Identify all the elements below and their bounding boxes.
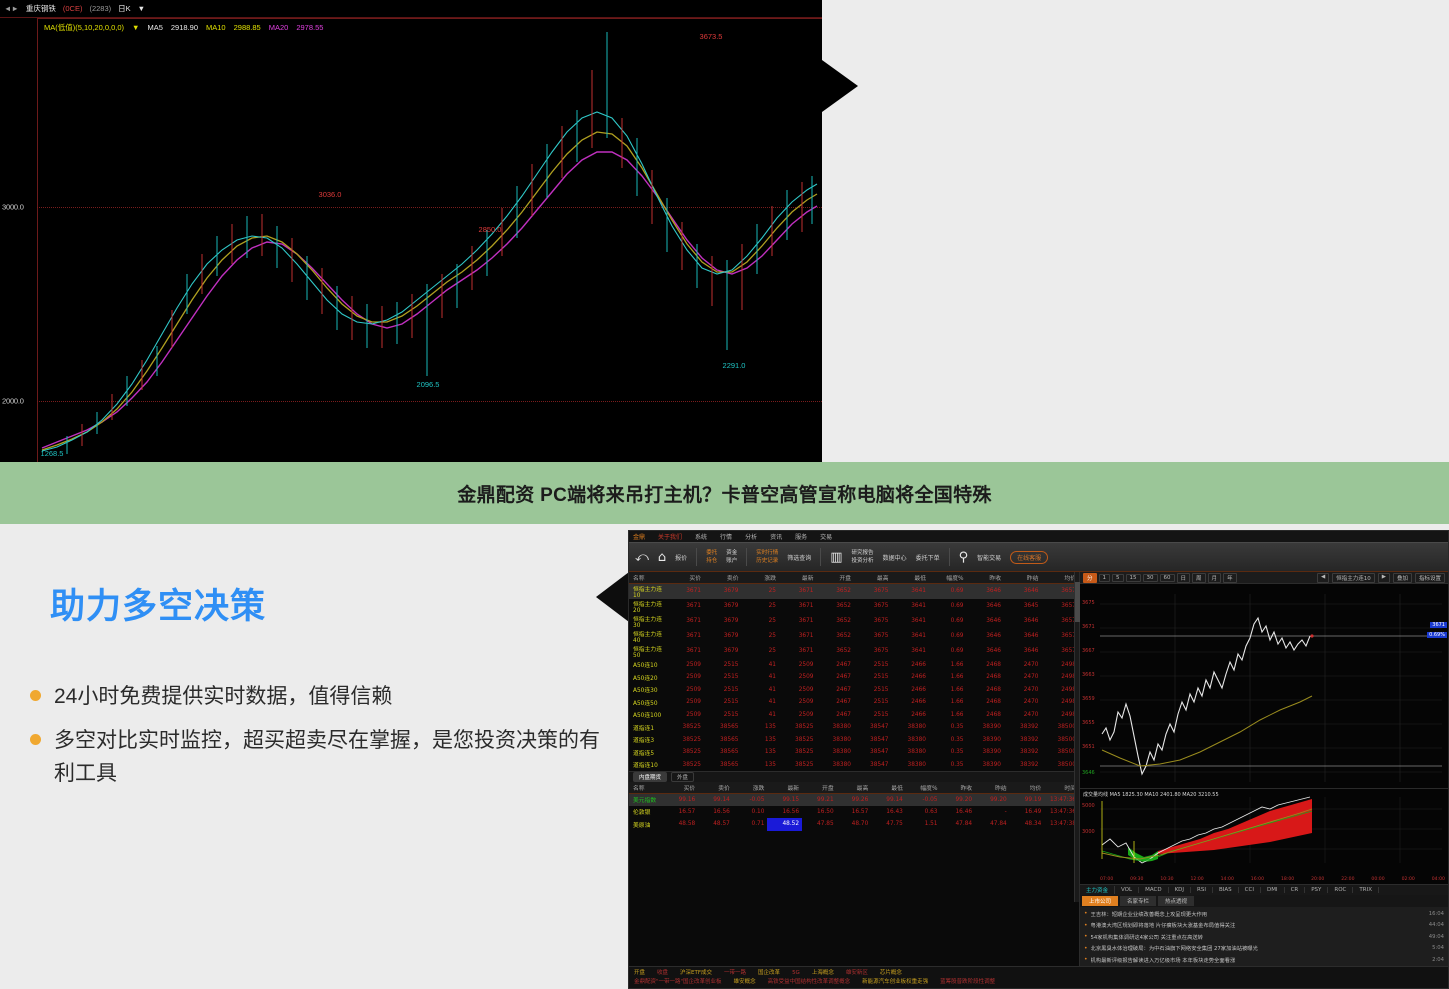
row-cell: 38380 — [817, 759, 855, 772]
row-cell: 99.20 — [975, 793, 1010, 806]
row-cell: 48.34 — [1010, 818, 1045, 831]
row-cell: 38392 — [1004, 721, 1042, 734]
row-symbol-name: 恒指主力连20 — [629, 599, 667, 614]
col-name[interactable]: 名称 — [629, 572, 667, 583]
row-cell: 3646 — [967, 644, 1005, 659]
news-time: 2:04 — [1432, 957, 1448, 963]
ind-tab-cr[interactable]: CR — [1285, 887, 1306, 893]
bullet-text: 24小时免费提供实时数据，值得信赖 — [54, 680, 392, 714]
list-item: 多空对比实时监控，超买超卖尽在掌握，是您投资决策的有利工具 — [30, 724, 610, 791]
row-cell: 16.57 — [664, 806, 699, 819]
row-cell: 38525 — [779, 759, 817, 772]
toolbar-item-3-top: 实时行情 — [756, 549, 778, 557]
section-tab-bar: 内盘期货 外盘 — [629, 771, 1079, 782]
ind-tab-rsi[interactable]: RSI — [1191, 887, 1213, 893]
chart-timeframe-toolbar: 分 1 5 15 30 60 日 周 月 年 ◀ 恒指主力连10 ▶ 叠加 指 — [1080, 572, 1448, 584]
toolbar-item-5-bottom: 投资分析 — [852, 557, 874, 565]
col-bid[interactable]: 买价 — [667, 572, 705, 583]
quote-scrollbar[interactable] — [1074, 572, 1079, 902]
toolbar-item-filter[interactable]: 筛选查询 — [787, 553, 811, 562]
news-tab-hotspot[interactable]: 热点透视 — [1158, 896, 1194, 906]
row-cell: 2468 — [967, 696, 1005, 709]
row-cell: 2467 — [817, 696, 855, 709]
row-cell: 47.85 — [802, 818, 837, 831]
row-cell: 3641 — [892, 629, 930, 644]
indicator-y-label-0: 5000 — [1082, 803, 1095, 809]
menu-item-about[interactable]: 关于我们 — [658, 532, 682, 541]
dcol-high[interactable]: 最高 — [837, 782, 872, 793]
dcol-prevsettle[interactable]: 昨结 — [975, 782, 1010, 793]
tf-btn-1[interactable]: 1 — [1099, 574, 1111, 582]
row-cell: 3646 — [1004, 583, 1042, 599]
news-tab-listed[interactable]: 上市公司 — [1082, 896, 1118, 906]
tf-btn-5[interactable]: 5 — [1112, 574, 1124, 582]
statusbar-item[interactable]: 蓝筹股普跌阶段性调整 — [940, 978, 995, 987]
col-ask[interactable]: 卖价 — [704, 572, 742, 583]
row-cell: 38380 — [892, 746, 930, 759]
table-row[interactable]: A50连50250925154125092467251524661.662468… — [629, 696, 1079, 709]
kchart-annotation: 2291.0 — [723, 361, 746, 370]
tf-btn-month[interactable]: 月 — [1208, 573, 1222, 583]
news-list-item[interactable]: •王吉林：短期企业业绩改善概念上攻呈现更大作用16:04 — [1080, 908, 1448, 920]
kchart-annotation: 1268.5 — [41, 449, 64, 458]
row-cell: 2468 — [967, 671, 1005, 684]
row-cell: - — [975, 806, 1010, 819]
row-cell: 2467 — [817, 684, 855, 697]
dcol-prevclose[interactable]: 昨收 — [940, 782, 975, 793]
price-y-label-3: 3663 — [1082, 672, 1095, 678]
row-cell: 3652 — [817, 614, 855, 629]
row-cell: 38392 — [1004, 759, 1042, 772]
price-chart-area[interactable]: 3675 3671 3667 3663 3659 3655 3651 3646 … — [1080, 584, 1448, 789]
row-cell: 2509 — [779, 684, 817, 697]
statusbar-item[interactable]: 金鼎配资"一带一路"国企改革创业板 — [634, 978, 722, 987]
row-cell: 38565 — [704, 734, 742, 747]
col-change[interactable]: 涨跌 — [742, 572, 780, 583]
chart-prev-button[interactable]: ◀ — [1317, 573, 1329, 583]
banner-bar: 金鼎配资 PC端将来吊打主机？卡普空高管宣称电脑将全国特殊 — [0, 462, 1449, 524]
row-cell: 2515 — [704, 684, 742, 697]
row-cell: 2466 — [892, 684, 930, 697]
table-row[interactable]: A50连100250925154125092467251524661.66246… — [629, 709, 1079, 722]
price-y-label-1: 3671 — [1082, 624, 1095, 630]
row-cell: 25 — [742, 644, 780, 659]
news-title: 粤港澳大湾区规划即将落地 片仔癀板块大涨基金布局值得关注 — [1091, 921, 1429, 929]
row-cell: 3641 — [892, 614, 930, 629]
ind-tab-roc[interactable]: ROC — [1328, 887, 1353, 893]
bullet-dot-icon — [30, 734, 41, 745]
ind-tab-vol[interactable]: VOL — [1115, 887, 1139, 893]
news-title: 王吉林：短期企业业绩改善概念上攻呈现更大作用 — [1091, 910, 1429, 918]
row-symbol-name: 伦敦银 — [629, 806, 664, 819]
tf-btn-active[interactable]: 分 — [1083, 573, 1097, 583]
row-cell: 38547 — [854, 746, 892, 759]
terminal-body: 名称 买价 卖价 涨跌 最新 开盘 最高 最低 幅度% 昨收 昨结 均价 — [629, 572, 1448, 989]
row-cell: -0.05 — [906, 793, 941, 806]
chart-overlay-button[interactable]: 叠加 — [1393, 573, 1412, 583]
row-cell: 38565 — [704, 746, 742, 759]
row-cell: 3671 — [779, 644, 817, 659]
table-row[interactable]: 恒指主力连50367136792536713652367536410.69364… — [629, 644, 1079, 659]
indicator-y-label-1: 3000 — [1082, 829, 1095, 835]
ind-tab-cci[interactable]: CCI — [1239, 887, 1261, 893]
row-cell: 99.21 — [802, 793, 837, 806]
row-cell: 41 — [742, 659, 780, 672]
row-cell: 25 — [742, 614, 780, 629]
row-cell: 3646 — [1004, 629, 1042, 644]
ind-tab-active[interactable]: 主力资金 — [1080, 886, 1115, 894]
row-cell: 3671 — [667, 583, 705, 599]
tf-btn-week[interactable]: 周 — [1192, 573, 1206, 583]
dcol-avg[interactable]: 均价 — [1010, 782, 1045, 793]
toolbar-group-entrust[interactable]: 委托 持仓 — [706, 549, 717, 566]
statusbar-item[interactable]: 5G — [792, 969, 800, 978]
menu-item-brand[interactable]: 金鼎 — [633, 532, 645, 541]
row-cell: 3679 — [704, 599, 742, 614]
home-icon[interactable]: ⌂ — [658, 550, 666, 565]
tf-btn-15[interactable]: 15 — [1126, 574, 1141, 582]
row-cell: 3671 — [667, 629, 705, 644]
chart-symbol-label[interactable]: 恒指主力连10 — [1332, 573, 1375, 583]
row-cell: 3679 — [704, 614, 742, 629]
chart-settings-button[interactable]: 指标设置 — [1415, 573, 1445, 583]
row-symbol-name: 恒指主力连30 — [629, 614, 667, 629]
col-prevsettle[interactable]: 昨结 — [1004, 572, 1042, 583]
terminal-toolbar: ⤺ ⌂ 报价 委托 持仓 资金 账户 实时行情 历史记录 筛选查询 ▥ 研究报告… — [629, 542, 1448, 572]
kchart-period[interactable]: 日K — [118, 3, 131, 14]
time-tick-label: 14:00 — [1221, 877, 1234, 882]
row-cell: -0.05 — [733, 793, 768, 806]
row-cell: 47.84 — [940, 818, 975, 831]
row-cell: 3671 — [779, 583, 817, 599]
row-cell: 25 — [742, 629, 780, 644]
row-cell: 2515 — [854, 709, 892, 722]
banner-text: 金鼎配资 PC端将来吊打主机？卡普空高管宣称电脑将全国特殊 — [457, 480, 991, 507]
toolbar-group-funds[interactable]: 资金 账户 — [726, 549, 737, 566]
row-cell: 0.10 — [733, 806, 768, 819]
row-cell: 16.46 — [940, 806, 975, 819]
row-symbol-name: 道指连10 — [629, 759, 667, 772]
row-cell: 2467 — [817, 671, 855, 684]
news-list-item[interactable]: •54家机构集体调研这4家公司 关注重点在高送转49:04 — [1080, 931, 1448, 943]
current-change-tag: 0.69% — [1427, 632, 1447, 638]
bar-chart-icon[interactable]: ▥ — [830, 550, 842, 565]
row-symbol-name: 恒指主力连40 — [629, 629, 667, 644]
bulb-icon[interactable]: ⚲ — [959, 550, 969, 565]
toolbar-group-realtime[interactable]: 实时行情 历史记录 — [756, 549, 778, 566]
chart-next-button[interactable]: ▶ — [1378, 573, 1390, 583]
menu-item-analysis[interactable]: 分析 — [745, 532, 757, 541]
slide-page: ◄► 重庆钢铁 (0CE) (2283) 日K ▼ MA(低值)(5,10,20… — [0, 0, 1449, 989]
row-cell: 38525 — [667, 746, 705, 759]
ind-tab-psy[interactable]: PSY — [1305, 887, 1328, 893]
table-row[interactable]: 道指连33852538565135385253838038547383800.3… — [629, 734, 1079, 747]
time-tick-label: 09:30 — [1130, 877, 1143, 882]
row-symbol-name: 恒指主力连10 — [629, 583, 667, 599]
col-pct[interactable]: 幅度% — [929, 572, 967, 583]
news-list-item[interactable]: •粤港澳大湾区规划即将落地 片仔癀板块大涨基金布局值得关注44:04 — [1080, 920, 1448, 932]
row-cell: 16.57 — [837, 806, 872, 819]
table-row[interactable]: 恒指主力连30367136792536713652367536410.69364… — [629, 614, 1079, 629]
news-list-item[interactable]: •北京黑臭水体治理破局：为中石油旗下网络安全集团 27家加油站被曝光5:04 — [1080, 943, 1448, 955]
row-cell: 3671 — [779, 599, 817, 614]
terminal-menubar: 金鼎 关于我们 系统 行情 分析 资讯 服务 交易 — [629, 531, 1448, 542]
statusbar-item[interactable]: 沪深ETF成交 — [680, 969, 712, 978]
back-arrow-icon[interactable]: ⤺ — [635, 550, 649, 565]
time-tick-label: 10:30 — [1160, 877, 1173, 882]
online-service-button[interactable]: 在线客服 — [1010, 551, 1048, 564]
time-tick-label: 02:00 — [1402, 877, 1415, 882]
tf-btn-year[interactable]: 年 — [1223, 573, 1237, 583]
row-cell: 2515 — [704, 659, 742, 672]
row-cell: 3646 — [967, 629, 1005, 644]
menu-item-news[interactable]: 资讯 — [770, 532, 782, 541]
table-row[interactable]: 美元指数99.1699.14-0.0599.1599.2199.2699.14-… — [629, 793, 1079, 806]
news-list-item[interactable]: •机构最新评级报告解读进入万亿级市场 本年板块走势全面看涨2:04 — [1080, 954, 1448, 966]
table-row[interactable]: 恒指主力连40367136792536713652367536410.69364… — [629, 629, 1079, 644]
statusbar-item[interactable]: 国企改革 — [758, 969, 780, 978]
row-cell: 25 — [742, 583, 780, 599]
menu-item-trade[interactable]: 交易 — [820, 532, 832, 541]
row-cell: 2509 — [779, 659, 817, 672]
row-cell: 38547 — [854, 721, 892, 734]
toolbar-divider — [696, 548, 697, 566]
price-y-label-5: 3655 — [1082, 720, 1095, 726]
row-cell: 16.50 — [802, 806, 837, 819]
row-cell: 1.66 — [929, 671, 967, 684]
row-cell: 38390 — [967, 721, 1005, 734]
statusbar-item[interactable]: 芯片概念 — [880, 969, 902, 978]
toolbar-item-order[interactable]: 委托下单 — [916, 553, 940, 562]
toolbar-item-0[interactable]: 报价 — [675, 553, 687, 562]
row-cell: 2470 — [1004, 671, 1042, 684]
row-cell: 2509 — [667, 696, 705, 709]
row-cell: 99.19 — [1010, 793, 1045, 806]
row-cell: 48.70 — [837, 818, 872, 831]
row-cell: 38392 — [1004, 734, 1042, 747]
row-cell: 2470 — [1004, 709, 1042, 722]
row-cell: 3646 — [967, 599, 1005, 614]
ind-tab-macd[interactable]: MACD — [1139, 887, 1169, 893]
row-cell: 3641 — [892, 599, 930, 614]
row-cell: 3652 — [817, 644, 855, 659]
menu-item-service[interactable]: 服务 — [795, 532, 807, 541]
toolbar-item-3-bottom: 历史记录 — [756, 557, 778, 565]
toolbar-divider — [949, 548, 950, 566]
kchart-titlebar: ◄► 重庆钢铁 (0CE) (2283) 日K ▼ — [0, 0, 822, 18]
ind-tab-trix[interactable]: TRIX — [1353, 887, 1379, 893]
row-cell: 3679 — [704, 629, 742, 644]
toolbar-item-1-bottom: 持仓 — [706, 557, 717, 565]
statusbar-item[interactable]: 雄安概念 — [734, 978, 756, 987]
quote-table-header-row: 名称 买价 卖价 涨跌 最新 开盘 最高 最低 幅度% 昨收 昨结 均价 — [629, 572, 1079, 583]
toolbar-item-smart-trade[interactable]: 智能交易 — [977, 553, 1001, 562]
news-tab-bar: 上市公司 名家专栏 热点透视 — [1080, 895, 1448, 907]
detail-quote-table: 名称 买价 卖价 涨跌 最新 开盘 最高 最低 幅度% 昨收 昨结 均价 — [629, 782, 1079, 831]
dcol-ask[interactable]: 卖价 — [698, 782, 733, 793]
row-cell: 38390 — [967, 746, 1005, 759]
row-cell: 16.49 — [1010, 806, 1045, 819]
row-cell: 3675 — [854, 583, 892, 599]
kchart-y-label: 3000.0 — [2, 203, 24, 212]
row-cell: 3671 — [779, 629, 817, 644]
row-cell: 2515 — [854, 659, 892, 672]
row-cell: 99.14 — [871, 793, 906, 806]
bullet-dot-icon: • — [1084, 956, 1088, 963]
row-cell: 3652 — [817, 599, 855, 614]
time-tick-label: 20:00 — [1311, 877, 1324, 882]
row-cell: 2466 — [892, 671, 930, 684]
price-chart-svg — [1080, 584, 1448, 789]
table-row[interactable]: 伦敦银16.5716.560.1016.5616.5016.5716.430.6… — [629, 806, 1079, 819]
row-symbol-name: A50连100 — [629, 709, 667, 722]
row-cell: 38525 — [667, 759, 705, 772]
table-row[interactable]: A50连10250925154125092467251524661.662468… — [629, 659, 1079, 672]
row-cell: 3646 — [967, 614, 1005, 629]
chart-pane: 分 1 5 15 30 60 日 周 月 年 ◀ 恒指主力连10 ▶ 叠加 指 — [1080, 572, 1448, 989]
table-row[interactable]: A50连20250925154125092467251524661.662468… — [629, 671, 1079, 684]
row-cell: 48.58 — [664, 818, 699, 831]
row-cell: 135 — [742, 746, 780, 759]
row-cell: 0.35 — [929, 759, 967, 772]
kchart-code-extra: (2283) — [89, 4, 111, 13]
toolbar-item-datacenter[interactable]: 数据中心 — [883, 553, 907, 562]
toolbar-item-5-top: 研究报告 — [852, 549, 874, 557]
row-cell: 99.20 — [940, 793, 975, 806]
statusbar-item[interactable]: 上海概念 — [812, 969, 834, 978]
chevron-down-icon[interactable]: ▼ — [138, 4, 145, 13]
row-cell: 3671 — [667, 614, 705, 629]
menu-item-quotes[interactable]: 行情 — [720, 532, 732, 541]
row-cell: 3641 — [892, 644, 930, 659]
indicator-chart-svg — [1080, 789, 1448, 869]
row-cell: 47.75 — [871, 818, 906, 831]
row-cell: 38565 — [704, 759, 742, 772]
toolbar-group-research[interactable]: 研究报告 投资分析 — [852, 549, 874, 566]
tf-btn-30[interactable]: 30 — [1143, 574, 1158, 582]
row-cell: 38380 — [892, 759, 930, 772]
statusbar-item[interactable]: 新能源汽车创业板权重走强 — [862, 978, 928, 987]
toolbar-item-1-top: 委托 — [706, 549, 717, 557]
table-row[interactable]: 恒指主力连20367136792536713652367536410.69364… — [629, 599, 1079, 614]
row-cell: 99.14 — [698, 793, 733, 806]
statusbar-item[interactable]: 高铁受益中国结构性改革调整概念 — [768, 978, 851, 987]
row-cell: 2509 — [667, 709, 705, 722]
section-tab-overseas[interactable]: 外盘 — [671, 772, 694, 782]
col-open[interactable]: 开盘 — [817, 572, 855, 583]
statusbar-item[interactable]: 开盘 — [634, 969, 645, 978]
time-tick-label: 18:00 — [1281, 877, 1294, 882]
row-cell: 2468 — [967, 659, 1005, 672]
ind-tab-bias[interactable]: BIAS — [1213, 887, 1239, 893]
kline-chart-screenshot: ◄► 重庆钢铁 (0CE) (2283) 日K ▼ MA(低值)(5,10,20… — [0, 0, 822, 462]
col-low[interactable]: 最低 — [892, 572, 930, 583]
row-cell: 2467 — [817, 709, 855, 722]
row-symbol-name: A50连10 — [629, 659, 667, 672]
row-cell: 0.69 — [929, 614, 967, 629]
table-row[interactable]: 恒指主力连10367136792536713652367536410.69364… — [629, 583, 1079, 599]
dcol-last[interactable]: 最新 — [767, 782, 802, 793]
row-cell: 3645 — [1004, 599, 1042, 614]
table-row[interactable]: 道指连13852538565135385253838038547383800.3… — [629, 721, 1079, 734]
row-cell: 2509 — [667, 659, 705, 672]
tf-btn-day[interactable]: 日 — [1177, 573, 1191, 583]
bullet-dot-icon: • — [1084, 910, 1088, 917]
row-symbol-name: A50连20 — [629, 671, 667, 684]
toolbar-divider — [746, 548, 747, 566]
table-row[interactable]: 美原油48.5848.570.7148.5247.8548.7047.751.5… — [629, 818, 1079, 831]
statusbar-item[interactable]: 雄安新区 — [846, 969, 868, 978]
row-cell: 2470 — [1004, 684, 1042, 697]
row-cell: 2467 — [817, 659, 855, 672]
row-symbol-name: A50连30 — [629, 684, 667, 697]
dcol-name[interactable]: 名称 — [629, 782, 664, 793]
dcol-bid[interactable]: 买价 — [664, 782, 699, 793]
news-time: 44:04 — [1429, 922, 1448, 928]
news-title: 机构最新评级报告解读进入万亿级市场 本年板块走势全面看涨 — [1091, 956, 1433, 964]
dcol-open[interactable]: 开盘 — [802, 782, 837, 793]
row-cell: 3671 — [779, 614, 817, 629]
table-row[interactable]: A50连30250925154125092467251524661.662468… — [629, 684, 1079, 697]
dcol-change[interactable]: 涨跌 — [733, 782, 768, 793]
row-cell: 0.69 — [929, 629, 967, 644]
table-row[interactable]: 道指连53852538565135385253838038547383800.3… — [629, 746, 1079, 759]
ind-tab-kdj[interactable]: KDJ — [1169, 887, 1191, 893]
indicator-chart-area[interactable]: 成交量均线 MA5 1825.30 MA10 2401.80 MA20 3210… — [1080, 789, 1448, 884]
statusbar-item[interactable]: 收盘 — [657, 969, 668, 978]
ind-tab-dmi[interactable]: DMI — [1261, 887, 1285, 893]
row-cell: 38392 — [1004, 746, 1042, 759]
col-high[interactable]: 最高 — [854, 572, 892, 583]
row-cell: 2515 — [704, 671, 742, 684]
news-time: 49:04 — [1429, 934, 1448, 940]
price-y-label-4: 3659 — [1082, 696, 1095, 702]
news-tab-columns[interactable]: 名家专栏 — [1120, 896, 1156, 906]
dcol-pct[interactable]: 幅度% — [906, 782, 941, 793]
tf-btn-60[interactable]: 60 — [1160, 574, 1175, 582]
row-cell: 41 — [742, 709, 780, 722]
row-cell: 38547 — [854, 734, 892, 747]
row-cell: 0.35 — [929, 721, 967, 734]
detail-table-header-row: 名称 买价 卖价 涨跌 最新 开盘 最高 最低 幅度% 昨收 昨结 均价 — [629, 782, 1079, 793]
col-last[interactable]: 最新 — [779, 572, 817, 583]
col-prevclose[interactable]: 昨收 — [967, 572, 1005, 583]
row-symbol-name: 道指连1 — [629, 721, 667, 734]
kchart-annotation: 2850.0 — [479, 225, 502, 234]
time-tick-label: 00:00 — [1371, 877, 1384, 882]
statusbar-item[interactable]: 一带一路 — [724, 969, 746, 978]
time-tick-label: 07:00 — [1100, 877, 1113, 882]
row-cell: 38525 — [779, 721, 817, 734]
row-symbol-name: 恒指主力连50 — [629, 644, 667, 659]
toolbar-divider — [820, 548, 821, 566]
quote-table-body: 恒指主力连10367136792536713652367536410.69364… — [629, 583, 1079, 771]
menu-item-system[interactable]: 系统 — [695, 532, 707, 541]
dcol-low[interactable]: 最低 — [871, 782, 906, 793]
section-tab-domestic[interactable]: 内盘期货 — [633, 772, 667, 782]
bullet-dot-icon: • — [1084, 933, 1088, 940]
row-cell: 2466 — [892, 696, 930, 709]
row-cell: 2515 — [704, 696, 742, 709]
row-symbol-name: 道指连5 — [629, 746, 667, 759]
row-cell: 38525 — [667, 721, 705, 734]
table-row[interactable]: 道指连103852538565135385253838038547383800.… — [629, 759, 1079, 772]
row-cell: 38380 — [892, 734, 930, 747]
kchart-annotation: 2096.5 — [417, 380, 440, 389]
row-cell: 2470 — [1004, 696, 1042, 709]
scrollbar-thumb[interactable] — [1075, 582, 1080, 622]
row-cell: 3679 — [704, 583, 742, 599]
